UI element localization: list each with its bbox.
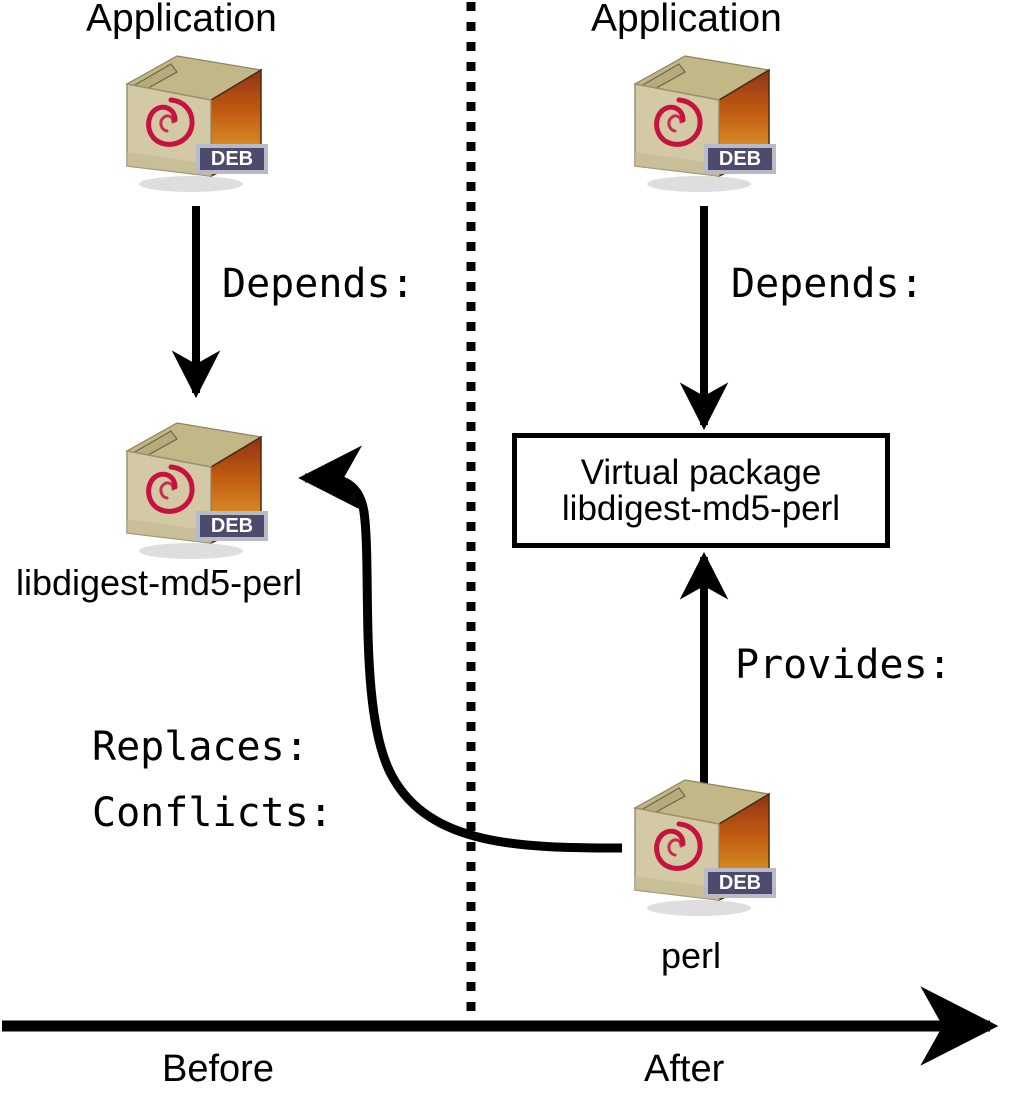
deb-badge-text: DEB xyxy=(719,872,761,894)
package-box-shadow xyxy=(139,176,243,192)
debian-package-icon: DEB xyxy=(113,415,273,563)
debian-package-icon: DEB xyxy=(113,48,273,196)
debian-package-icon: DEB xyxy=(621,772,781,920)
deb-badge: DEB xyxy=(196,144,268,174)
package-name-perl: perl xyxy=(661,938,721,974)
package-box-shadow xyxy=(647,176,751,192)
conflicts-label: Conflicts: xyxy=(92,793,333,833)
debian-package-icon-perl: DEB xyxy=(621,772,781,920)
timeline-label-after: After xyxy=(644,1050,724,1088)
debian-package-icon-application-before: DEB xyxy=(113,48,273,196)
depends-label-before: Depends: xyxy=(222,264,415,304)
virtual-package-title: Virtual package xyxy=(581,455,822,491)
deb-badge: DEB xyxy=(704,144,776,174)
replaces-label: Replaces: xyxy=(92,727,309,767)
provides-label: Provides: xyxy=(735,645,952,685)
application-label-after: Application xyxy=(591,0,782,38)
virtual-package-name: libdigest-md5-perl xyxy=(562,491,840,527)
virtual-package-box: Virtual package libdigest-md5-perl xyxy=(512,433,890,548)
deb-badge: DEB xyxy=(196,511,268,541)
package-box-shadow xyxy=(139,543,243,559)
diagram-canvas: Application Application xyxy=(0,0,1024,1094)
depends-label-after: Depends: xyxy=(731,264,924,304)
timeline-label-before: Before xyxy=(162,1050,274,1088)
debian-package-icon: DEB xyxy=(621,48,781,196)
debian-package-icon-application-after: DEB xyxy=(621,48,781,196)
debian-package-icon-libdigest-md5-perl: DEB xyxy=(113,415,273,563)
deb-badge-text: DEB xyxy=(719,148,761,170)
application-label-before: Application xyxy=(86,0,277,38)
deb-badge-text: DEB xyxy=(211,148,253,170)
package-name-libdigest-md5-perl: libdigest-md5-perl xyxy=(16,565,302,601)
package-box-shadow xyxy=(647,900,751,916)
deb-badge-text: DEB xyxy=(211,515,253,537)
deb-badge: DEB xyxy=(704,868,776,898)
